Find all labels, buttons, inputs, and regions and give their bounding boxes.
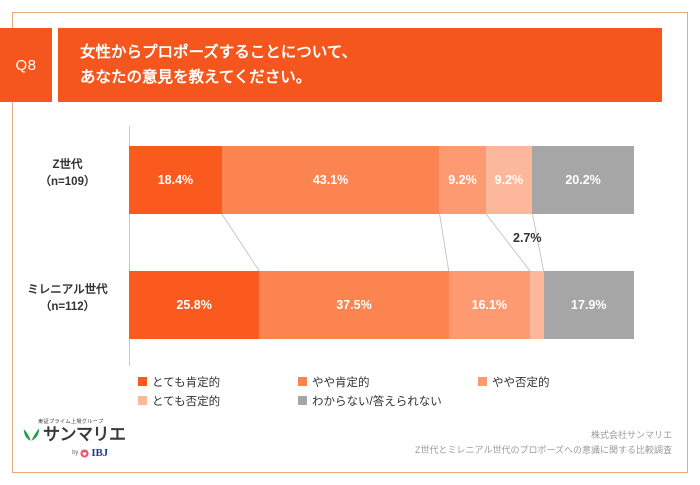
bar-segment[interactable]: 37.5% (259, 271, 448, 339)
slide: Q8 女性からプロポーズすることについて、 あなたの意見を教えてください。 Z世… (0, 0, 700, 485)
legend-item-very-negative[interactable]: とても否定的 (138, 393, 298, 409)
bar-segment-value: 18.4% (158, 173, 193, 187)
chart-legend: とても肯定的 やや肯定的 やや否定的 とても否定的 わからない/答えられない (138, 372, 608, 412)
bar-segment[interactable]: 16.1% (449, 271, 530, 339)
question-header: Q8 女性からプロポーズすることについて、 あなたの意見を教えてください。 (0, 28, 662, 102)
bar-segment[interactable]: 9.2% (439, 146, 485, 214)
sunmarie-logo: 東証プライム上場グループ サンマリエ by IBJ (22, 418, 152, 468)
legend-swatch-icon (298, 377, 307, 386)
legend-swatch-icon (138, 377, 147, 386)
footer-company: 株式会社サンマリエ (415, 428, 672, 443)
legend-item-somewhat-negative[interactable]: やや否定的 (478, 374, 608, 390)
bar-segment-value: 16.1% (472, 298, 507, 312)
bar-segment-value: 25.8% (176, 298, 211, 312)
question-number-label: Q8 (15, 57, 36, 74)
legend-item-very-positive[interactable]: とても肯定的 (138, 374, 298, 390)
legend-item-somewhat-positive[interactable]: やや肯定的 (298, 374, 478, 390)
bar-segment[interactable]: 20.2% (532, 146, 634, 214)
legend-item-label: とても肯定的 (152, 374, 220, 390)
bar-segment-value: 9.2% (495, 173, 524, 187)
bar-millennial-generation: 25.8% 37.5% 16.1% 17.9% (129, 271, 634, 339)
legend-item-label: やや肯定的 (312, 374, 370, 390)
stacked-bar-chart: Z世代 （n=109） ミレニアル世代 （n=112） 18.4% 43.1% … (0, 118, 700, 368)
category-sample-size: （n=109） (10, 174, 125, 191)
category-name: Z世代 (10, 157, 125, 174)
question-number-badge: Q8 (0, 28, 52, 102)
bar-segment-value: 17.9% (571, 298, 606, 312)
heart-icon (80, 449, 89, 458)
question-title-bar: 女性からプロポーズすることについて、 あなたの意見を教えてください。 (58, 28, 662, 102)
bar-z-generation: 18.4% 43.1% 9.2% 9.2% 20.2% (129, 146, 634, 214)
legend-item-label: やや否定的 (492, 374, 550, 390)
category-name: ミレニアル世代 (10, 282, 125, 299)
logo-name: サンマリエ (43, 426, 126, 443)
legend-item-label: わからない/答えられない (312, 393, 442, 409)
category-label-z-generation: Z世代 （n=109） (10, 157, 125, 190)
legend-row-2: とても否定的 わからない/答えられない (138, 391, 608, 410)
connector-line (222, 214, 259, 271)
ibj-brand-label: IBJ (91, 447, 108, 459)
legend-item-label: とても否定的 (152, 393, 220, 409)
bar-segment-value: 20.2% (565, 173, 600, 187)
bar-segment[interactable]: 43.1% (222, 146, 439, 214)
legend-swatch-icon (138, 396, 147, 405)
bar-segment[interactable]: 25.8% (129, 271, 259, 339)
bar-segment[interactable] (530, 271, 544, 339)
category-label-millennial-generation: ミレニアル世代 （n=112） (10, 282, 125, 315)
bar-segment[interactable]: 17.9% (544, 271, 634, 339)
question-line-2: あなたの意見を教えてください。 (80, 65, 662, 90)
logo-by-row: by IBJ (28, 447, 152, 459)
bar-segment-value: 9.2% (448, 173, 477, 187)
footer-source-note: 株式会社サンマリエ Z世代とミレニアル世代のプロポーズへの意識に関する比較調査 (415, 428, 672, 458)
legend-row-1: とても肯定的 やや肯定的 やや否定的 (138, 372, 608, 391)
category-sample-size: （n=112） (10, 299, 125, 316)
logo-by-label: by (72, 450, 78, 456)
legend-item-dont-know[interactable]: わからない/答えられない (298, 393, 478, 409)
question-line-1: 女性からプロポーズすることについて、 (80, 40, 662, 65)
bar-segment[interactable]: 18.4% (129, 146, 222, 214)
bar-segment-value: 37.5% (336, 298, 371, 312)
bar-segment[interactable]: 9.2% (486, 146, 532, 214)
legend-swatch-icon (478, 377, 487, 386)
leaf-icon (22, 426, 41, 443)
connector-line (440, 214, 449, 271)
legend-swatch-icon (298, 396, 307, 405)
bar-segment-value: 43.1% (313, 173, 348, 187)
logo-mark-row: サンマリエ (22, 426, 152, 443)
callout-label-2-7-percent: 2.7% (513, 231, 542, 245)
footer-survey-title: Z世代とミレニアル世代のプロポーズへの意識に関する比較調査 (415, 443, 672, 458)
logo-tagline: 東証プライム上場グループ (38, 418, 152, 425)
